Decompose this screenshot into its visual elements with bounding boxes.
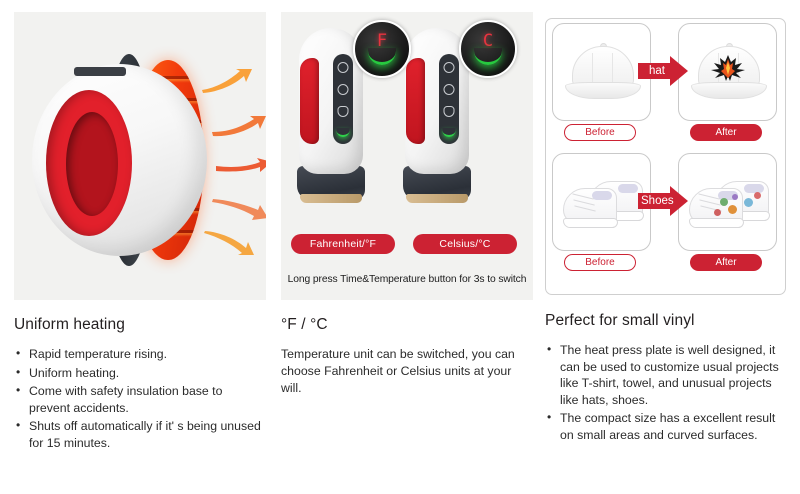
list-item: Rapid temperature rising. [14, 346, 266, 363]
device-red-base-ring [46, 90, 132, 236]
list-item: Come with safety insulation base to prev… [14, 383, 266, 416]
list-item: Shuts off automatically if it' s being u… [14, 418, 266, 451]
uniform-heating-bullet-list: Rapid temperature rising. Uniform heatin… [14, 346, 266, 451]
heat-wave-arrow-5 [202, 230, 264, 256]
status-badge-after: After [690, 254, 762, 271]
unit-badge-row: Fahrenheit/°F Celsius/°C [281, 234, 533, 256]
display-arc-icon [368, 48, 396, 65]
transform-arrow-shoes: Shoes [638, 185, 688, 217]
device-control-panel[interactable] [439, 54, 459, 144]
heat-wave-arrow-1 [200, 68, 262, 94]
printed-cap-illustration [687, 42, 769, 102]
page-title-uniform-heating: Uniform heating [14, 316, 266, 334]
device-pair-image: F C [281, 12, 533, 222]
decorated-sneakers-illustration [685, 175, 771, 229]
device-control-panel[interactable] [333, 54, 353, 144]
device-red-grip [406, 58, 425, 144]
page-title-temperature-unit: °F / °C [281, 316, 533, 334]
heat-wave-arrow-4 [210, 196, 266, 222]
heater-illustration-panel [14, 12, 266, 300]
device-top-slot [74, 67, 126, 76]
transform-arrow-hat: hat [638, 55, 688, 87]
device-red-grip [300, 58, 319, 144]
temperature-icon[interactable] [444, 106, 455, 117]
status-badge-before: Before [564, 124, 636, 141]
timer-icon[interactable] [444, 84, 455, 95]
device-inner-cavity [66, 112, 118, 216]
status-badge-after: After [690, 124, 762, 141]
timer-icon[interactable] [338, 84, 349, 95]
before-after-panel: hat Before After [545, 18, 786, 295]
list-item: The heat press plate is well designed, i… [545, 342, 786, 408]
product-feature-page: Uniform heating Rapid temperature rising… [0, 0, 800, 494]
heat-press-device-image [14, 12, 266, 300]
heat-wave-arrow-2 [210, 112, 266, 138]
list-item: The compact size has a excellent result … [545, 410, 786, 443]
small-vinyl-bullet-list: The heat press plate is well designed, i… [545, 342, 786, 443]
shoes-before-image [552, 153, 651, 251]
magnified-display-fahrenheit: F [353, 20, 411, 78]
switch-instruction-caption: Long press Time&Temperature button for 3… [281, 274, 533, 285]
power-icon[interactable] [444, 62, 455, 73]
device-foot [300, 194, 362, 203]
temperature-unit-paragraph: Temperature unit can be switched, you ca… [281, 346, 533, 397]
hat-after-image [678, 23, 777, 121]
feature-column-temperature-unit: F C Fahrenheit/°F Celsius/°C Long press … [281, 0, 533, 494]
plain-sneakers-illustration [559, 175, 645, 229]
comparison-row-shoes: Shoes Before After [546, 153, 785, 275]
display-arc-icon [337, 128, 350, 137]
temperature-unit-text: °F / °C Temperature unit can be switched… [281, 316, 533, 397]
power-icon[interactable] [338, 62, 349, 73]
shoes-after-image [678, 153, 777, 251]
status-badge-celsius: Celsius/°C [413, 234, 517, 254]
flame-graphic [709, 54, 747, 82]
magnified-display-celsius: C [459, 20, 517, 78]
device-white-body [32, 64, 207, 256]
status-badge-before: Before [564, 254, 636, 271]
temperature-unit-illustration-panel: F C Fahrenheit/°F Celsius/°C Long press … [281, 12, 533, 300]
arrow-label-shoes: Shoes [641, 193, 673, 209]
feature-column-small-vinyl: hat Before After [545, 0, 786, 494]
temperature-icon[interactable] [338, 106, 349, 117]
plain-cap-illustration [561, 42, 643, 102]
comparison-row-hat: hat Before After [546, 23, 785, 145]
hat-before-image [552, 23, 651, 121]
uniform-heating-text: Uniform heating Rapid temperature rising… [14, 316, 266, 453]
status-badge-fahrenheit: Fahrenheit/°F [291, 234, 395, 254]
small-vinyl-text: Perfect for small vinyl The heat press p… [545, 312, 786, 445]
page-title-small-vinyl: Perfect for small vinyl [545, 312, 786, 330]
list-item: Uniform heating. [14, 365, 266, 382]
device-foot [406, 194, 468, 203]
arrow-label-hat: hat [641, 63, 673, 79]
display-arc-icon [474, 48, 502, 65]
display-arc-icon [443, 128, 456, 137]
heat-wave-arrow-3 [214, 150, 266, 176]
feature-column-uniform-heating: Uniform heating Rapid temperature rising… [14, 0, 266, 494]
